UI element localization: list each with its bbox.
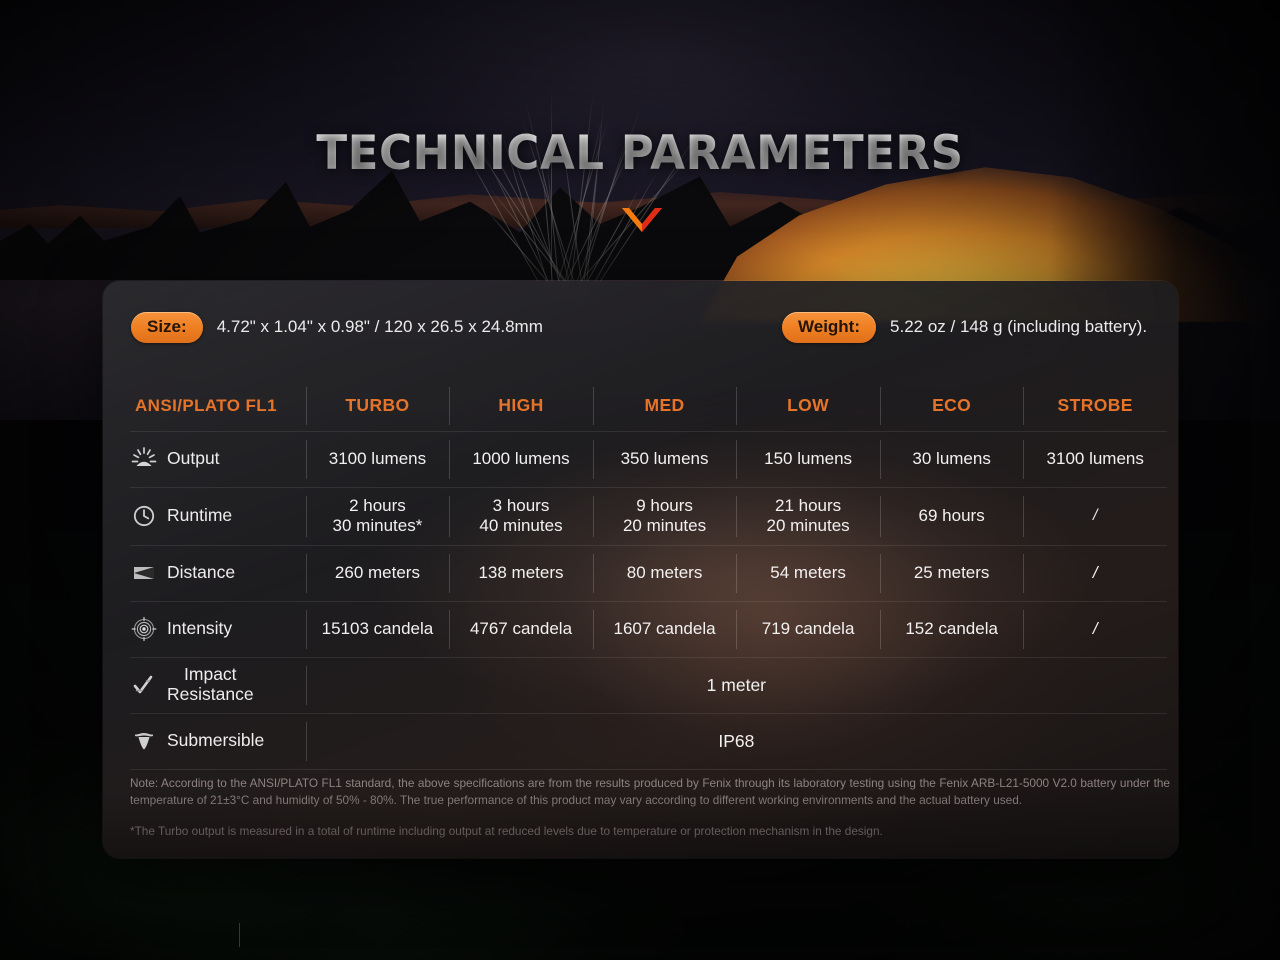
runtime-high: 3 hours 40 minutes [449, 487, 593, 545]
runtime-turbo-l1: 2 hours [306, 496, 450, 516]
title-area: TECHNICAL PARAMETERS [0, 126, 1280, 181]
row-label-submersible: Submersible [130, 713, 306, 769]
distance-med: 80 meters [593, 545, 737, 601]
weight-group: Weight: 5.22 oz / 148 g (including batte… [782, 312, 1147, 343]
impact-resistance-value: 1 meter [306, 657, 1167, 713]
impact-icon [130, 672, 158, 698]
output-turbo: 3100 lumens [306, 431, 450, 487]
runtime-turbo: 2 hours 30 minutes* [306, 487, 450, 545]
impact-label-l2: Resistance [167, 684, 254, 704]
runtime-eco: 69 hours [880, 487, 1024, 545]
intensity-low: 719 candela [736, 601, 880, 657]
table-row-runtime: Runtime 2 hours 30 minutes* 3 hours 40 m… [130, 487, 1167, 545]
intensity-med: 1607 candela [593, 601, 737, 657]
output-high: 1000 lumens [449, 431, 593, 487]
row-label-text: Submersible [167, 731, 264, 751]
beam-icon [130, 560, 158, 586]
row-label-intensity: Intensity [130, 601, 306, 657]
note-paragraph-1: Note: According to the ANSI/PLATO FL1 st… [130, 775, 1170, 810]
distance-strobe: / [1023, 545, 1167, 601]
chevron-accent-icon [620, 206, 664, 236]
footnote-block: Note: According to the ANSI/PLATO FL1 st… [130, 775, 1170, 840]
submersible-value: IP68 [306, 713, 1167, 769]
water-drop-icon [130, 728, 158, 754]
row-label-text: Runtime [167, 506, 232, 526]
row-label-impact-resistance: Impact Resistance [130, 657, 306, 713]
target-icon [130, 616, 158, 642]
output-med: 350 lumens [593, 431, 737, 487]
table-row-intensity: Intensity 15103 candela 4767 candela 160… [130, 601, 1167, 657]
header-eco: ECO [880, 381, 1024, 431]
runtime-low-l1: 21 hours [736, 496, 880, 516]
table-row-submersible: Submersible IP68 [130, 713, 1167, 769]
size-value: 4.72" x 1.04" x 0.98" / 120 x 26.5 x 24.… [217, 317, 543, 337]
spec-panel: Size: 4.72" x 1.04" x 0.98" / 120 x 26.5… [103, 281, 1178, 858]
runtime-low-l2: 20 minutes [736, 516, 880, 536]
output-low: 150 lumens [736, 431, 880, 487]
size-label-pill: Size: [131, 312, 203, 343]
header-standard: ANSI/PLATO FL1 [130, 381, 306, 431]
runtime-turbo-l2: 30 minutes* [306, 516, 450, 536]
header-low: LOW [736, 381, 880, 431]
distance-high: 138 meters [449, 545, 593, 601]
stray-light-streak [239, 923, 240, 947]
size-weight-row: Size: 4.72" x 1.04" x 0.98" / 120 x 26.5… [103, 301, 1178, 353]
output-strobe: 3100 lumens [1023, 431, 1167, 487]
size-group: Size: 4.72" x 1.04" x 0.98" / 120 x 26.5… [131, 312, 543, 343]
runtime-strobe: / [1023, 487, 1167, 545]
specification-table: ANSI/PLATO FL1 TURBO HIGH MED LOW ECO ST… [130, 381, 1167, 770]
weight-label-pill: Weight: [782, 312, 876, 343]
table-row-distance: Distance 260 meters 138 meters 80 meters… [130, 545, 1167, 601]
header-strobe: STROBE [1023, 381, 1167, 431]
runtime-strobe-l1: / [1023, 507, 1167, 526]
runtime-eco-l1: 69 hours [880, 506, 1024, 526]
runtime-med: 9 hours 20 minutes [593, 487, 737, 545]
header-high: HIGH [449, 381, 593, 431]
grass-tuft [480, 90, 670, 305]
runtime-med-l2: 20 minutes [593, 516, 737, 536]
page-title: TECHNICAL PARAMETERS [26, 126, 1255, 181]
row-label-text: Output [167, 449, 220, 469]
row-label-distance: Distance [130, 545, 306, 601]
runtime-high-l1: 3 hours [449, 496, 593, 516]
distance-turbo: 260 meters [306, 545, 450, 601]
table-row-output: Output 3100 lumens 1000 lumens 350 lumen… [130, 431, 1167, 487]
table-row-impact-resistance: Impact Resistance 1 meter [130, 657, 1167, 713]
sunburst-icon [130, 446, 158, 472]
row-label-text: Impact Resistance [167, 665, 254, 704]
row-label-text: Distance [167, 563, 235, 583]
weight-value: 5.22 oz / 148 g (including battery). [890, 317, 1147, 337]
runtime-low: 21 hours 20 minutes [736, 487, 880, 545]
intensity-strobe: / [1023, 601, 1167, 657]
row-label-output: Output [130, 431, 306, 487]
intensity-turbo: 15103 candela [306, 601, 450, 657]
row-label-runtime: Runtime [130, 487, 306, 545]
header-turbo: TURBO [306, 381, 450, 431]
intensity-eco: 152 candela [880, 601, 1024, 657]
row-label-text: Intensity [167, 619, 232, 639]
output-eco: 30 lumens [880, 431, 1024, 487]
note-paragraph-2: *The Turbo output is measured in a total… [130, 823, 1170, 840]
distance-low: 54 meters [736, 545, 880, 601]
runtime-high-l2: 40 minutes [449, 516, 593, 536]
distance-eco: 25 meters [880, 545, 1024, 601]
clock-icon [130, 503, 158, 529]
table-header-row: ANSI/PLATO FL1 TURBO HIGH MED LOW ECO ST… [130, 381, 1167, 431]
intensity-high: 4767 candela [449, 601, 593, 657]
header-med: MED [593, 381, 737, 431]
impact-label-l1: Impact [184, 664, 237, 684]
runtime-med-l1: 9 hours [593, 496, 737, 516]
